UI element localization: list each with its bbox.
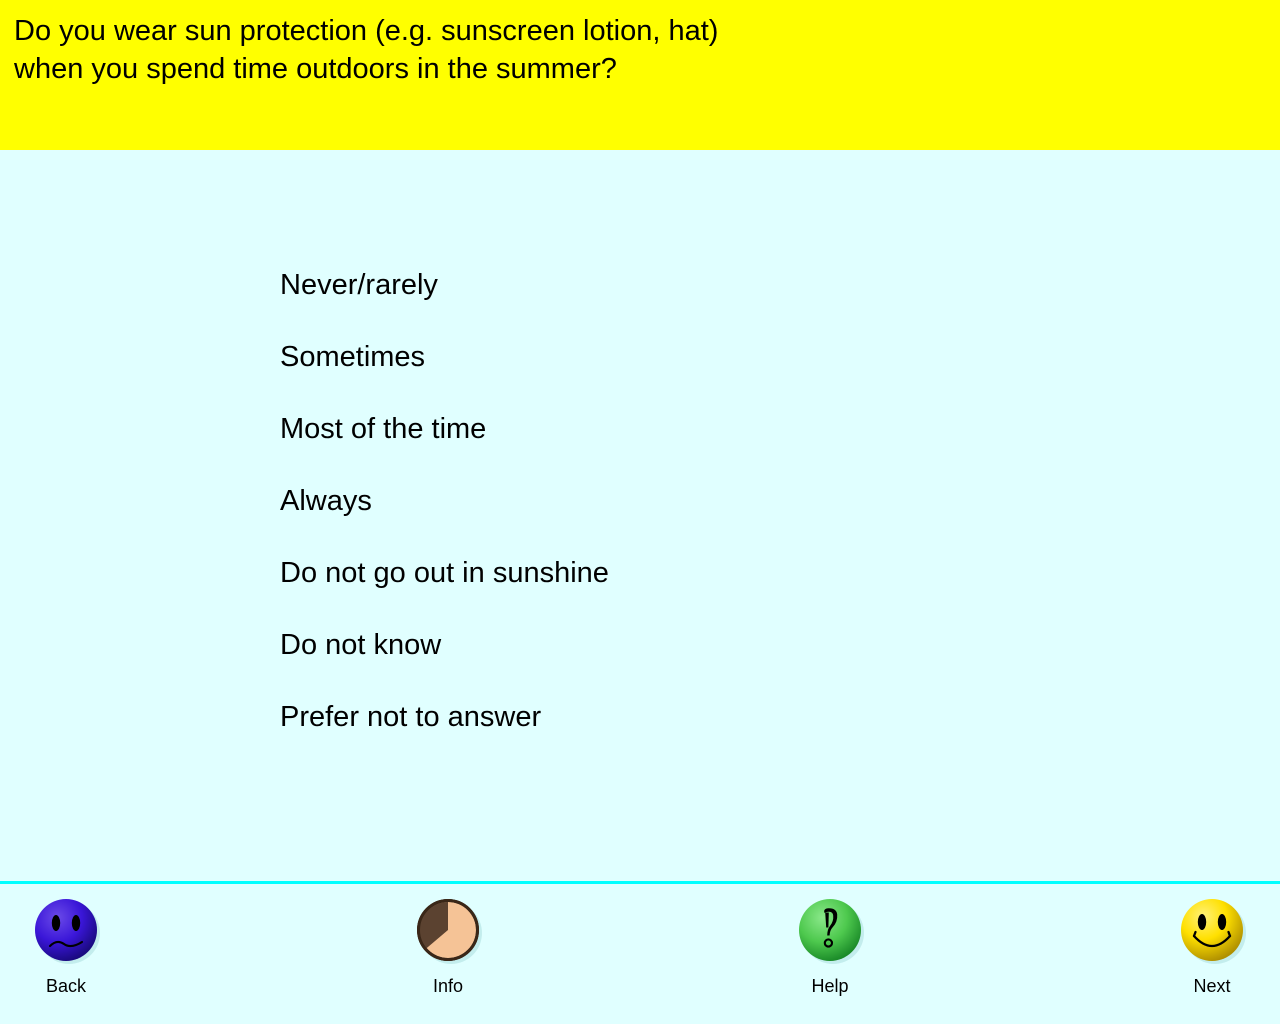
- smiley-face-icon: [1176, 894, 1248, 966]
- answer-options-list: Never/rarely Sometimes Most of the time …: [280, 268, 609, 772]
- question-mark-icon: [794, 894, 866, 966]
- help-button-label: Help: [760, 976, 900, 996]
- question-text-line-1: Do you wear sun protection (e.g. sunscre…: [14, 12, 1280, 50]
- sad-face-icon: [30, 894, 102, 966]
- option-always[interactable]: Always: [280, 484, 609, 556]
- next-button[interactable]: Next: [1142, 894, 1280, 996]
- question-header: Do you wear sun protection (e.g. sunscre…: [0, 0, 1280, 150]
- info-button[interactable]: Info: [378, 894, 518, 996]
- option-prefer-not-to-answer[interactable]: Prefer not to answer: [280, 700, 609, 772]
- back-button[interactable]: Back: [0, 894, 136, 996]
- option-do-not-go-out-in-sunshine[interactable]: Do not go out in sunshine: [280, 556, 609, 628]
- back-button-label: Back: [0, 976, 136, 996]
- question-text-line-2: when you spend time outdoors in the summ…: [14, 50, 1280, 88]
- option-never-rarely[interactable]: Never/rarely: [280, 268, 609, 340]
- options-area: Never/rarely Sometimes Most of the time …: [0, 150, 1280, 882]
- pie-chart-icon: [412, 894, 484, 966]
- help-button[interactable]: Help: [760, 894, 900, 996]
- option-sometimes[interactable]: Sometimes: [280, 340, 609, 412]
- info-button-label: Info: [378, 976, 518, 996]
- navigation-bar: Back Info: [0, 884, 1280, 1024]
- option-most-of-the-time[interactable]: Most of the time: [280, 412, 609, 484]
- next-button-label: Next: [1142, 976, 1280, 996]
- option-do-not-know[interactable]: Do not know: [280, 628, 609, 700]
